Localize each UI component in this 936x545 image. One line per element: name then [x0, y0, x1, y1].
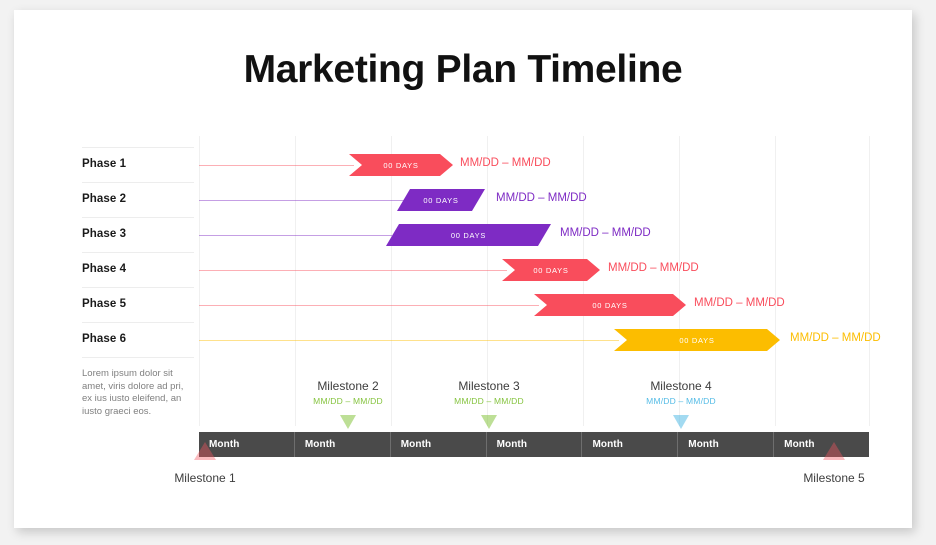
phase-connector-line-6 [199, 340, 619, 341]
phase-date-range-2: MM/DD – MM/DD [496, 192, 587, 204]
description-text: Lorem ipsum dolor sit amet, viris dolore… [82, 368, 194, 418]
phase-bar-duration-2: 00 DAYS [423, 196, 458, 205]
milestone-bottom-name-1: Milestone 1 [135, 471, 275, 485]
milestone-bottom-1[interactable]: Milestone 1 [135, 467, 275, 485]
phase-row-2[interactable]: Phase 200 DAYSMM/DD – MM/DD [82, 183, 882, 218]
phase-bar-duration-5: 00 DAYS [592, 301, 627, 310]
milestone-top-2[interactable]: Milestone 2MM/DD – MM/DD [268, 379, 428, 406]
phase-connector-line-4 [199, 270, 507, 271]
phase-row-separator-6 [82, 357, 194, 358]
phase-label-4: Phase 4 [82, 263, 186, 275]
phase-bar-3[interactable]: 00 DAYS [386, 224, 551, 246]
phase-bar-5[interactable]: 00 DAYS [534, 294, 686, 316]
timeline-chart: Phase 100 DAYSMM/DD – MM/DDPhase 200 DAY… [14, 10, 912, 528]
phase-row-1[interactable]: Phase 100 DAYSMM/DD – MM/DD [82, 148, 882, 183]
phase-row-3[interactable]: Phase 300 DAYSMM/DD – MM/DD [82, 218, 882, 253]
milestone-top-name-3: Milestone 3 [409, 379, 569, 393]
phase-row-4[interactable]: Phase 400 DAYSMM/DD – MM/DD [82, 253, 882, 288]
month-cell-7[interactable]: Month [774, 432, 869, 457]
month-cell-label-2: Month [295, 439, 336, 450]
slide-canvas: Marketing Plan Timeline Phase 100 DAYSMM… [0, 0, 936, 545]
phase-bar-duration-1: 00 DAYS [383, 161, 418, 170]
milestone-top-date-4: MM/DD – MM/DD [601, 396, 761, 406]
milestone-top-name-2: Milestone 2 [268, 379, 428, 393]
phase-label-6: Phase 6 [82, 333, 186, 345]
phase-connector-line-2 [199, 200, 404, 201]
phase-connector-line-1 [199, 165, 354, 166]
milestone-bottom-name-5: Milestone 5 [764, 471, 904, 485]
phase-row-5[interactable]: Phase 500 DAYSMM/DD – MM/DD [82, 288, 882, 323]
milestone-triangle-outline-5 [823, 442, 845, 460]
month-axis-bar: MonthMonthMonthMonthMonthMonthMonth [199, 432, 869, 457]
phase-bar-4[interactable]: 00 DAYS [502, 259, 600, 281]
milestone-top-date-3: MM/DD – MM/DD [409, 396, 569, 406]
phase-row-6[interactable]: Phase 600 DAYSMM/DD – MM/DD [82, 323, 882, 358]
phase-date-range-4: MM/DD – MM/DD [608, 262, 699, 274]
month-cell-6[interactable]: Month [678, 432, 774, 457]
phase-bar-1[interactable]: 00 DAYS [349, 154, 453, 176]
phase-connector-line-5 [199, 305, 539, 306]
milestone-bottom-5[interactable]: Milestone 5 [764, 467, 904, 485]
month-cell-label-6: Month [678, 439, 719, 450]
month-cell-label-7: Month [774, 439, 815, 450]
milestone-triangle-outline-1 [194, 442, 216, 460]
month-cell-label-5: Month [582, 439, 623, 450]
phase-connector-line-3 [199, 235, 392, 236]
milestone-top-date-2: MM/DD – MM/DD [268, 396, 428, 406]
phase-date-range-1: MM/DD – MM/DD [460, 157, 551, 169]
phase-bar-2[interactable]: 00 DAYS [397, 189, 485, 211]
milestone-top-4[interactable]: Milestone 4MM/DD – MM/DD [601, 379, 761, 406]
phase-bar-duration-3: 00 DAYS [451, 231, 486, 240]
phase-bar-duration-6: 00 DAYS [679, 336, 714, 345]
milestone-triangle-down-icon-4 [673, 415, 689, 429]
milestone-top-name-4: Milestone 4 [601, 379, 761, 393]
milestone-triangle-down-icon-2 [340, 415, 356, 429]
phase-date-range-5: MM/DD – MM/DD [694, 297, 785, 309]
phase-bar-6[interactable]: 00 DAYS [614, 329, 780, 351]
milestone-triangle-down-icon-3 [481, 415, 497, 429]
milestone-top-3[interactable]: Milestone 3MM/DD – MM/DD [409, 379, 569, 406]
phase-row-separator-top [82, 147, 194, 148]
slide-card: Marketing Plan Timeline Phase 100 DAYSMM… [14, 10, 912, 528]
phase-bar-duration-4: 00 DAYS [533, 266, 568, 275]
phase-label-1: Phase 1 [82, 158, 186, 170]
month-cell-4[interactable]: Month [487, 432, 583, 457]
phase-label-5: Phase 5 [82, 298, 186, 310]
month-cell-label-3: Month [391, 439, 432, 450]
phase-date-range-6: MM/DD – MM/DD [790, 332, 881, 344]
phase-date-range-3: MM/DD – MM/DD [560, 227, 651, 239]
month-cell-2[interactable]: Month [295, 432, 391, 457]
phase-label-2: Phase 2 [82, 193, 186, 205]
month-cell-3[interactable]: Month [391, 432, 487, 457]
phase-label-3: Phase 3 [82, 228, 186, 240]
month-cell-label-4: Month [487, 439, 528, 450]
month-cell-5[interactable]: Month [582, 432, 678, 457]
